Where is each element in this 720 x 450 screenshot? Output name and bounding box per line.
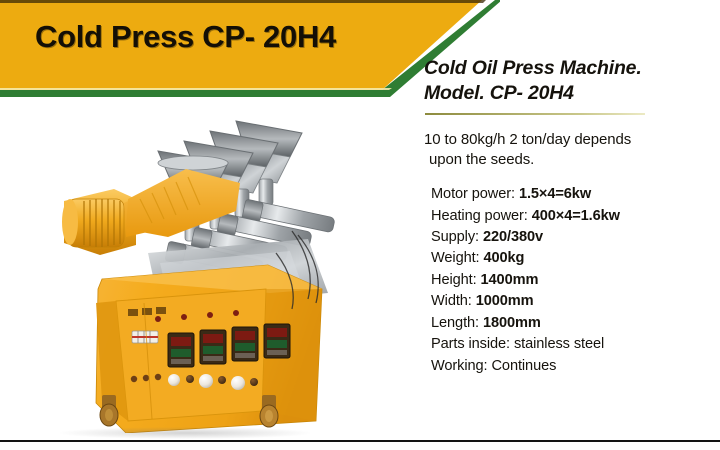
machine-illustration xyxy=(40,103,370,433)
capacity-text: 10 to 80kg/h 2 ton/day depends upon the … xyxy=(424,130,716,170)
spec-label: Width: xyxy=(431,293,472,309)
motor-fins xyxy=(84,199,120,247)
spec-label: Heating power: xyxy=(431,208,528,224)
spec-row: Working: Continues xyxy=(431,356,716,377)
temperature-controller xyxy=(232,327,258,361)
spec-list: Motor power: 1.5×4=6kwHeating power: 400… xyxy=(424,184,716,377)
product-info-panel: Cold Oil Press Machine. Model. CP- 20H4 … xyxy=(424,56,716,377)
spec-label: Length: xyxy=(431,315,479,331)
machine-floor-shadow xyxy=(60,427,310,439)
headline-divider xyxy=(425,113,645,115)
spec-row: Weight: 400kg xyxy=(431,248,716,269)
spec-value: 1800mm xyxy=(483,315,541,331)
spec-row: Height: 1400mm xyxy=(431,270,716,291)
spec-row: Heating power: 400×4=1.6kw xyxy=(431,206,716,227)
banner-top-edge xyxy=(0,0,486,3)
spec-value: 400×4=1.6kw xyxy=(532,208,620,224)
capacity-line-1: 10 to 80kg/h 2 ton/day depends xyxy=(424,131,631,148)
caster-wheel xyxy=(260,395,278,427)
terminal-block xyxy=(132,331,158,343)
spec-value: 1400mm xyxy=(481,272,539,288)
bottom-border-rule xyxy=(0,440,720,442)
spec-label: Weight: xyxy=(431,250,480,266)
spec-row: Length: 1800mm xyxy=(431,313,716,334)
spec-label: Motor power: xyxy=(431,186,515,202)
spec-label: Working: xyxy=(431,358,488,374)
product-headline: Cold Oil Press Machine. Model. CP- 20H4 xyxy=(424,56,716,106)
spec-row: Supply: 220/380v xyxy=(431,227,716,248)
headline-line-1: Cold Oil Press Machine. xyxy=(424,57,642,79)
spec-value: Continues xyxy=(491,358,556,374)
spec-value: 220/380v xyxy=(483,229,543,245)
capacity-line-2: upon the seeds. xyxy=(424,150,716,170)
spec-value: 400kg xyxy=(483,250,524,266)
spec-row: Width: 1000mm xyxy=(431,291,716,312)
spec-row: Motor power: 1.5×4=6kw xyxy=(431,184,716,205)
machine-cabinet xyxy=(96,265,322,433)
bottom-strip xyxy=(0,442,720,450)
product-banner-page: Cold Press CP- 20H4 xyxy=(0,0,720,450)
banner-title: Cold Press CP- 20H4 xyxy=(35,19,336,55)
caster-wheel xyxy=(100,395,118,426)
spec-row: Parts inside: stainless steel xyxy=(431,334,716,355)
spec-label: Parts inside: xyxy=(431,336,510,352)
headline-line-2: Model. CP- 20H4 xyxy=(424,81,716,106)
spec-value: 1.5×4=6kw xyxy=(519,186,591,202)
temperature-controller xyxy=(264,324,290,358)
temperature-controller xyxy=(200,330,226,364)
temperature-controller xyxy=(168,333,194,367)
spec-value: 1000mm xyxy=(476,293,534,309)
spec-value: stainless steel xyxy=(514,336,604,352)
spec-label: Height: xyxy=(431,272,477,288)
banner-pale-divider xyxy=(0,88,392,90)
spec-label: Supply: xyxy=(431,229,479,245)
